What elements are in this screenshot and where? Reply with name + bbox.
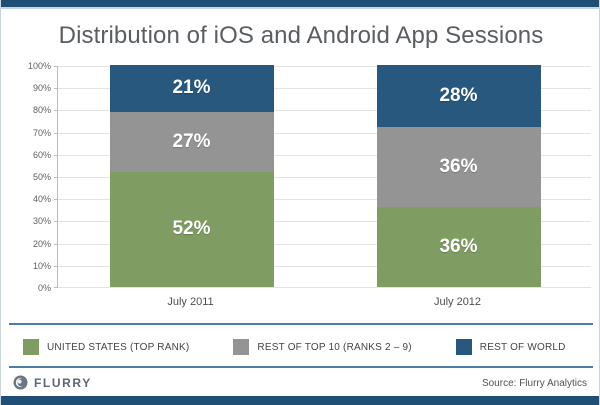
chart-title: Distribution of iOS and Android App Sess… bbox=[1, 22, 600, 50]
y-axis-tick-mark bbox=[54, 133, 58, 134]
legend-label: REST OF WORLD bbox=[480, 342, 566, 353]
y-axis-tick-label: 10% bbox=[33, 261, 51, 271]
legend-swatch-gray bbox=[233, 339, 249, 355]
legend-label: UNITED STATES (TOP RANK) bbox=[47, 342, 189, 353]
bar-segment-value-label: 21% bbox=[172, 77, 210, 99]
x-axis-category-label: July 2011 bbox=[57, 296, 324, 308]
source-note: Source: Flurry Analytics bbox=[482, 378, 587, 389]
flurry-logo: FLURRY bbox=[13, 375, 92, 390]
x-axis-category-label: July 2012 bbox=[324, 296, 591, 308]
y-axis-tick-label: 0% bbox=[38, 283, 51, 293]
chart-legend: UNITED STATES (TOP RANK) REST OF TOP 10 … bbox=[9, 331, 593, 363]
bar-stack[interactable]: 21%27%52% bbox=[110, 65, 274, 287]
bar-segment-value-label: 36% bbox=[439, 236, 477, 258]
chart-figure: Distribution of iOS and Android App Sess… bbox=[0, 0, 600, 405]
y-axis-tick-mark bbox=[54, 88, 58, 89]
y-axis-tick-label: 50% bbox=[33, 172, 51, 182]
bottom-accent-band bbox=[1, 396, 600, 405]
legend-divider-top bbox=[9, 323, 593, 325]
y-axis-tick-label: 100% bbox=[28, 61, 51, 71]
y-axis-tick-mark bbox=[54, 199, 58, 200]
legend-label: REST OF TOP 10 (RANKS 2 – 9) bbox=[257, 342, 411, 353]
bar-segment[interactable]: 36% bbox=[377, 127, 541, 207]
y-axis-tick-label: 70% bbox=[33, 128, 51, 138]
bar-segment[interactable]: 36% bbox=[377, 207, 541, 287]
y-axis-tick-label: 90% bbox=[33, 83, 51, 93]
bar-segment-value-label: 28% bbox=[439, 85, 477, 107]
top-accent-band bbox=[1, 0, 600, 7]
y-axis: 100%90%80%70%60%50%40%30%20%10%0% bbox=[11, 66, 57, 288]
bar-segment[interactable]: 21% bbox=[110, 65, 274, 112]
legend-swatch-blue bbox=[456, 339, 472, 355]
y-axis-tick-mark bbox=[54, 66, 58, 67]
bar-segment[interactable]: 28% bbox=[377, 65, 541, 127]
y-axis-tick-mark bbox=[54, 110, 58, 111]
y-axis-tick-mark bbox=[54, 287, 58, 288]
bar-stack[interactable]: 28%36%36% bbox=[377, 65, 541, 287]
bar-segment-value-label: 27% bbox=[172, 131, 210, 153]
top-accent-highlight bbox=[1, 7, 600, 9]
y-axis-tick-label: 30% bbox=[33, 216, 51, 226]
bar-segment-value-label: 52% bbox=[172, 218, 210, 240]
y-axis-tick-mark bbox=[54, 244, 58, 245]
y-axis-tick-label: 20% bbox=[33, 239, 51, 249]
legend-item-united-states[interactable]: UNITED STATES (TOP RANK) bbox=[23, 339, 189, 355]
flurry-wordmark: FLURRY bbox=[34, 376, 92, 390]
legend-item-rest-of-world[interactable]: REST OF WORLD bbox=[456, 339, 566, 355]
y-axis-tick-label: 60% bbox=[33, 150, 51, 160]
legend-swatch-green bbox=[23, 339, 39, 355]
gridline bbox=[58, 287, 591, 288]
bar-segment-value-label: 36% bbox=[439, 156, 477, 178]
flurry-circle-icon bbox=[13, 375, 28, 390]
legend-item-rest-of-top-10[interactable]: REST OF TOP 10 (RANKS 2 – 9) bbox=[233, 339, 411, 355]
y-axis-tick-mark bbox=[54, 177, 58, 178]
y-axis-tick-label: 80% bbox=[33, 105, 51, 115]
y-axis-tick-label: 40% bbox=[33, 194, 51, 204]
bar-segment[interactable]: 27% bbox=[110, 112, 274, 172]
y-axis-tick-mark bbox=[54, 155, 58, 156]
bar-segment[interactable]: 52% bbox=[110, 172, 274, 287]
x-axis-labels: July 2011July 2012 bbox=[57, 290, 591, 316]
y-axis-tick-mark bbox=[54, 266, 58, 267]
chart-plot-region: 100%90%80%70%60%50%40%30%20%10%0% 21%27%… bbox=[11, 66, 591, 318]
y-axis-tick-mark bbox=[54, 221, 58, 222]
plot-area: 21%27%52%28%36%36% bbox=[57, 66, 591, 288]
figure-footer: FLURRY Source: Flurry Analytics bbox=[1, 368, 600, 396]
